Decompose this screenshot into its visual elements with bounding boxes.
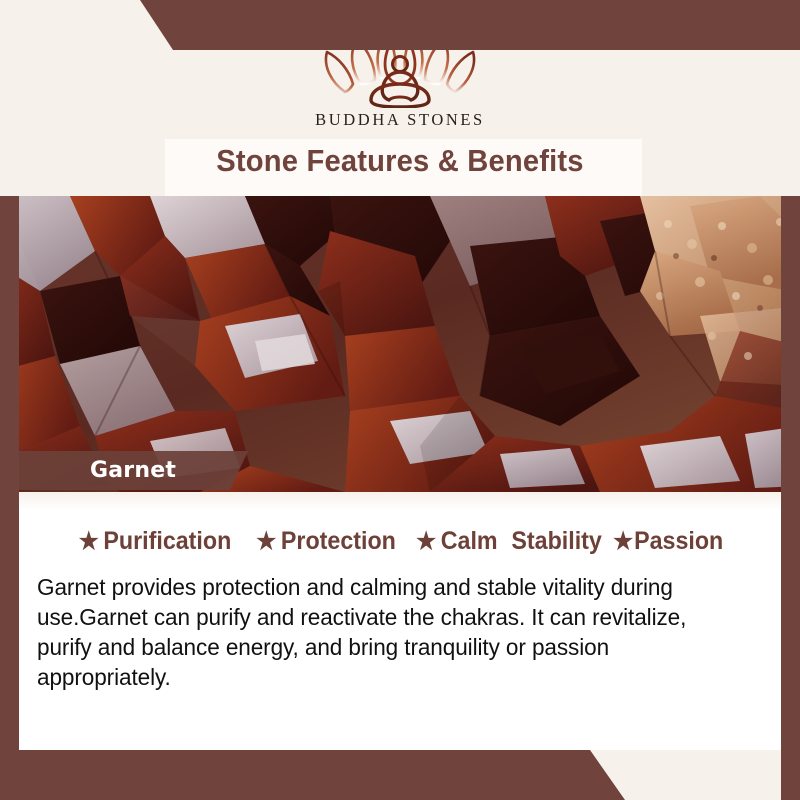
stone-description: Garnet provides protection and calming a… bbox=[37, 572, 736, 692]
stone-name-label: Garnet bbox=[90, 452, 176, 490]
content-top-fade bbox=[19, 492, 781, 510]
frame-bottom-border bbox=[0, 750, 800, 800]
frame-right-top-mask bbox=[781, 50, 800, 196]
benefit-label: Stability bbox=[511, 527, 601, 556]
star-icon: ★ bbox=[416, 530, 436, 554]
page-title: Stone Features & Benefits bbox=[24, 143, 776, 179]
benefit-item: ★ Purification bbox=[79, 527, 232, 556]
benefit-item: ★ Calm bbox=[416, 527, 498, 556]
benefit-label: Passion bbox=[634, 527, 723, 556]
brand-name: BUDDHA STONES bbox=[315, 110, 485, 130]
garnet-photo bbox=[0, 196, 800, 492]
benefit-label: Protection bbox=[281, 527, 396, 556]
frame-left-top-mask bbox=[0, 0, 19, 196]
benefit-label: Calm bbox=[441, 527, 498, 556]
benefit-item: ★ Passion bbox=[613, 527, 723, 556]
content-card: ★ Purification ★ Protection ★ Calm Stabi… bbox=[19, 492, 781, 750]
garnet-photo-art bbox=[0, 196, 800, 492]
star-icon: ★ bbox=[256, 530, 276, 554]
benefits-row: ★ Purification ★ Protection ★ Calm Stabi… bbox=[19, 527, 781, 556]
benefit-item: Stability bbox=[511, 527, 601, 556]
benefit-item: ★ Protection bbox=[256, 527, 396, 556]
star-icon: ★ bbox=[613, 530, 633, 554]
product-info-card: BUDDHA STONES Stone Features & Benefits … bbox=[0, 0, 800, 800]
benefit-label: Purification bbox=[103, 527, 231, 556]
star-icon: ★ bbox=[79, 530, 99, 554]
